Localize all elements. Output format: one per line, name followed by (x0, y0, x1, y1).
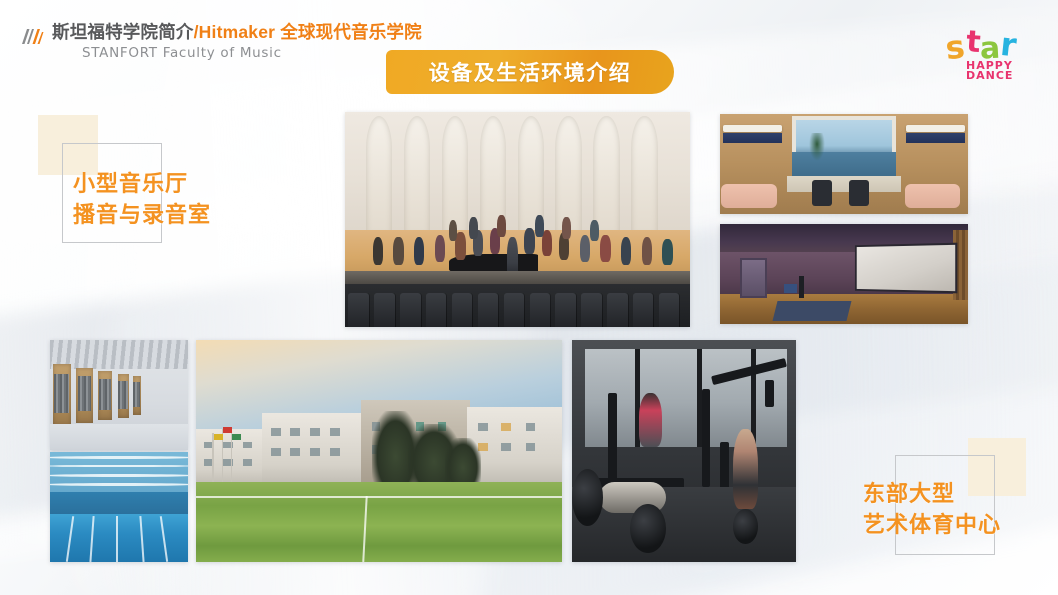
photo-concert-hall (345, 112, 690, 327)
photo-dormitory-room (720, 114, 968, 214)
header-subtitle: STANFORT Faculty of Music (52, 45, 422, 61)
slide-header: 斯坦福特学院简介/Hitmaker 全球现代音乐学院 STANFORT Facu… (20, 22, 422, 61)
section-title-label: 设备及生活环境介绍 (429, 57, 632, 87)
header-title: 斯坦福特学院简介/Hitmaker 全球现代音乐学院 (52, 22, 422, 42)
caption-left-line1: 小型音乐厅 (73, 168, 211, 199)
star-happy-dance-logo: s t a r HAPPY DANCE (940, 22, 1040, 80)
caption-left: 小型音乐厅 播音与录音室 (73, 168, 211, 230)
section-title-banner: 设备及生活环境介绍 (386, 50, 674, 94)
logo-tagline-line2: DANCE (966, 69, 1013, 80)
photo-library (50, 340, 188, 450)
photo-fitness-gym (572, 340, 796, 562)
stanfort-bars-icon (20, 26, 44, 48)
caption-left-line2: 播音与录音室 (73, 199, 211, 230)
photo-swimming-pool (50, 452, 188, 562)
caption-right-line2: 艺术体育中心 (863, 509, 1001, 540)
caption-right: 东部大型 艺术体育中心 (863, 478, 1001, 540)
header-title-cn: 斯坦福特学院简介 (52, 22, 194, 42)
photo-recording-studio (720, 224, 968, 324)
caption-right-line1: 东部大型 (863, 478, 1001, 509)
logo-letter-s: s (944, 27, 967, 67)
slide-canvas: 斯坦福特学院简介/Hitmaker 全球现代音乐学院 STANFORT Facu… (0, 0, 1058, 595)
photo-campus-field (196, 340, 562, 562)
header-title-brand: /Hitmaker 全球现代音乐学院 (194, 22, 422, 42)
